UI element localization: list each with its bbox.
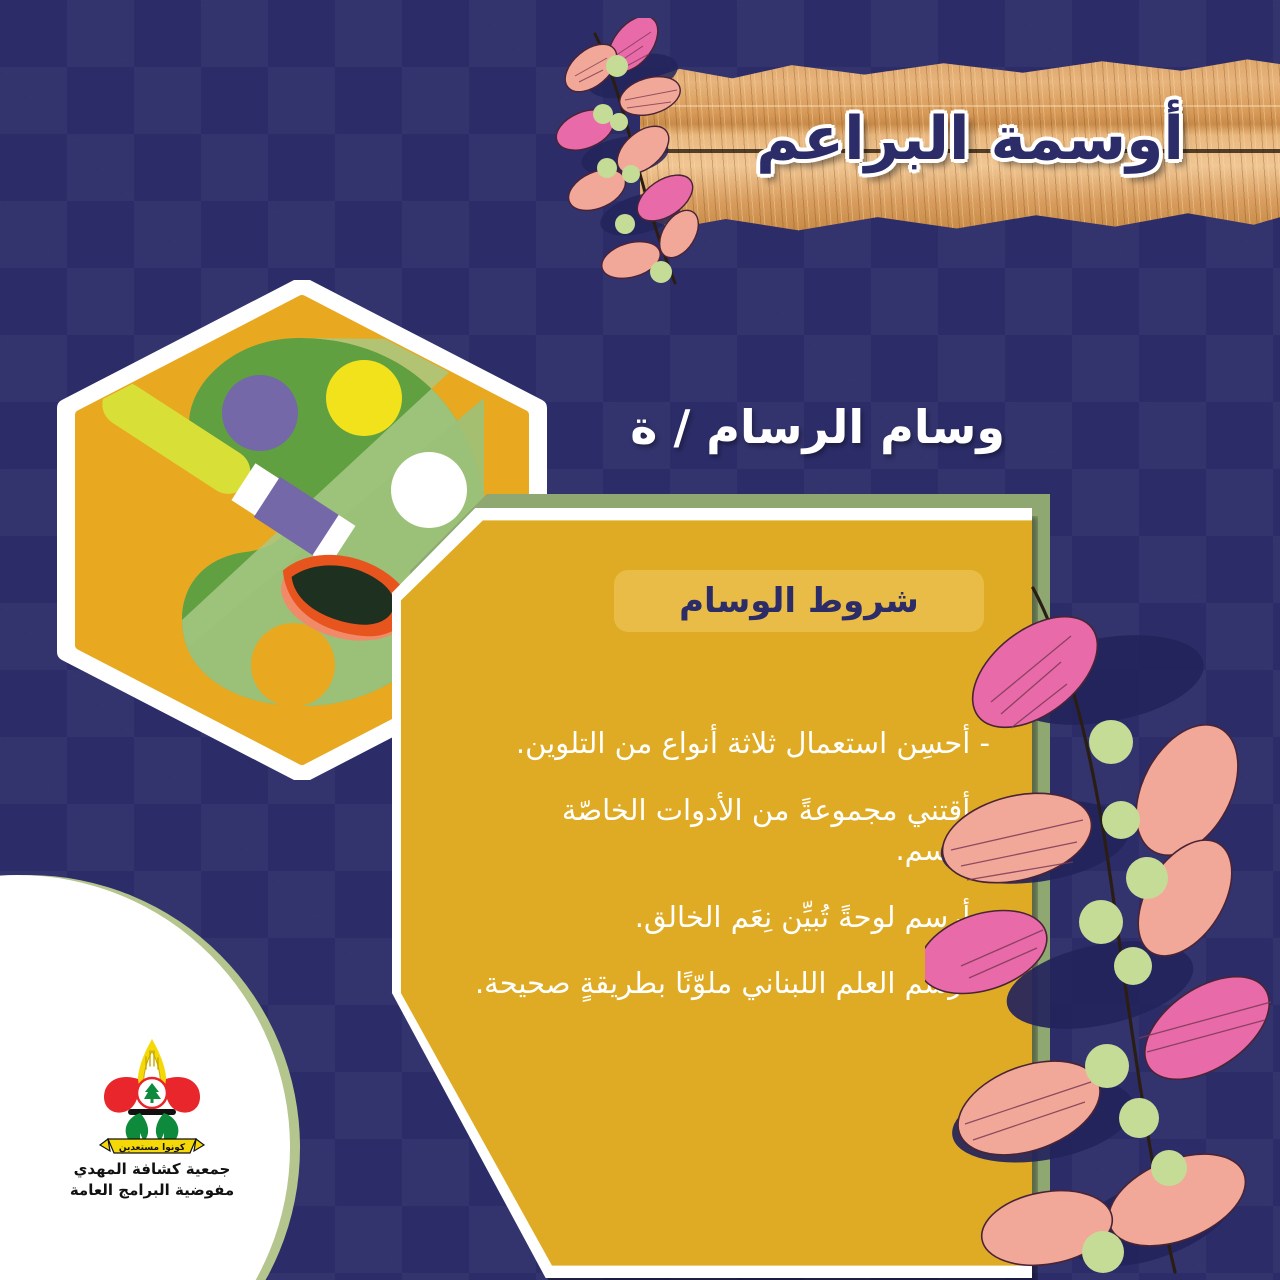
- condition-item: - أقتني مجموعةً من الأدوات الخاصّة بالرس…: [470, 790, 990, 871]
- header-banner: أوسمة البراعم: [640, 48, 1280, 238]
- conditions-list: - أحسِن استعمال ثلاثة أنواع من التلوين. …: [470, 723, 990, 1004]
- condition-item: - أرسم لوحةً تُبيِّن نِعَم الخالق.: [470, 897, 990, 938]
- conditions-heading: شروط الوسام: [614, 570, 984, 632]
- condition-item: - أرسم العلم اللبناني ملوّنًا بطريقةٍ صح…: [470, 963, 990, 1004]
- footer-org-line1: جمعية كشافة المهدي: [62, 1159, 242, 1181]
- page-title: أوسمة البراعم: [640, 48, 1280, 238]
- conditions-card: شروط الوسام - أحسِن استعمال ثلاثة أنواع …: [392, 508, 1032, 1278]
- condition-item: - أحسِن استعمال ثلاثة أنواع من التلوين.: [470, 723, 990, 764]
- emblem-motto: كونوا مستعدين: [119, 1143, 186, 1153]
- scout-emblem-icon: كونوا مستعدين: [82, 1033, 222, 1159]
- badge-title: وسام الرسام / ة: [630, 400, 1005, 454]
- footer-org-line2: مفوضية البرامج العامة: [62, 1180, 242, 1202]
- footer-logo: كونوا مستعدين جمعية كشافة المهدي مفوضية …: [62, 1033, 242, 1203]
